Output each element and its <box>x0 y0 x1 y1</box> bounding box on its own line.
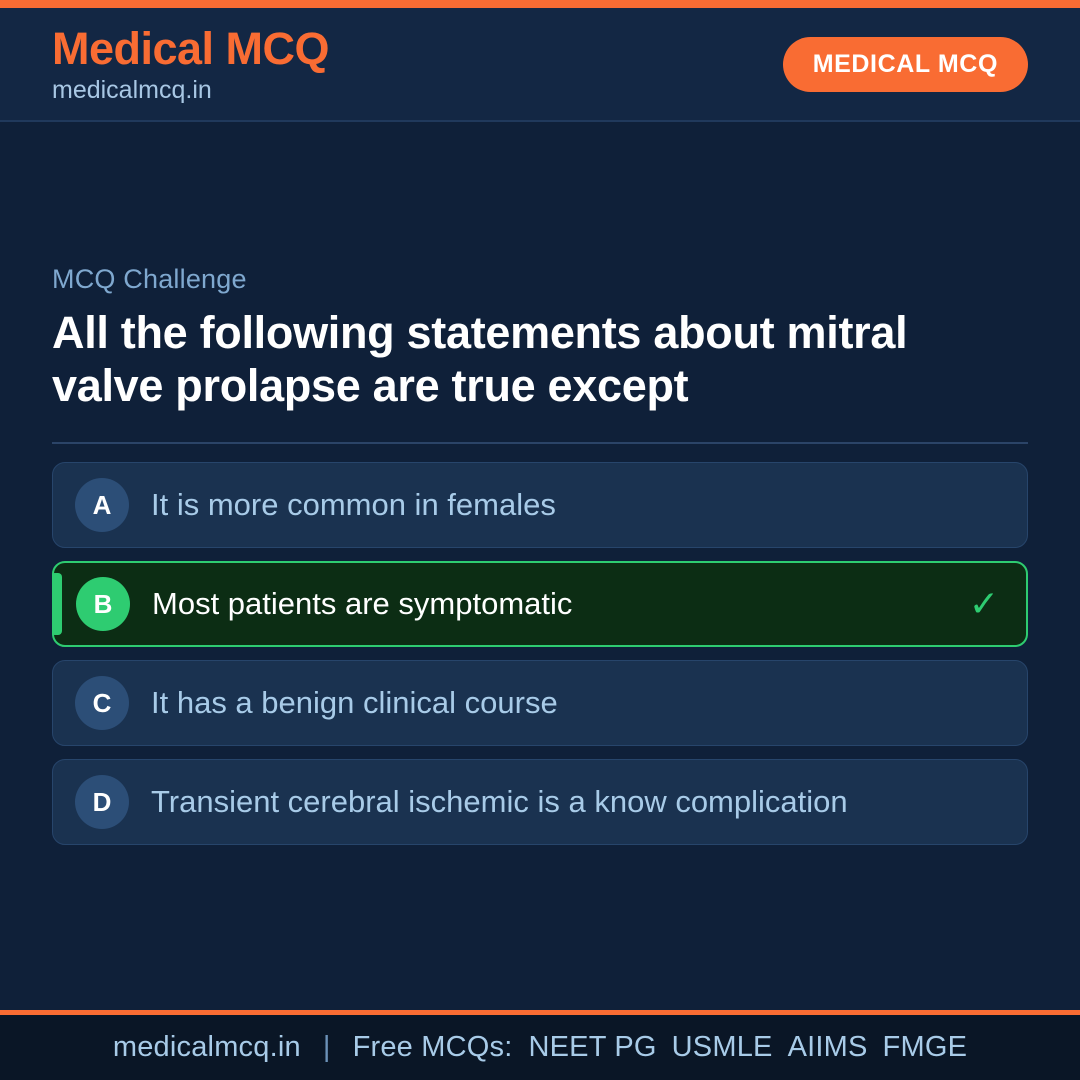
option-letter-badge: C <box>75 676 129 730</box>
footer-exam-neet-pg[interactable]: NEET PG <box>528 1031 656 1064</box>
option-label: It has a benign clinical course <box>151 686 965 721</box>
option-label: Transient cerebral ischemic is a know co… <box>151 785 965 820</box>
option-b[interactable]: B Most patients are symptomatic ✓ <box>52 561 1028 647</box>
eyebrow-label: MCQ Challenge <box>52 264 1028 295</box>
footer-content: medicalmcq.in | Free MCQs: NEET PG USMLE… <box>113 1031 967 1064</box>
footer-site[interactable]: medicalmcq.in <box>113 1031 301 1064</box>
section-divider <box>52 442 1028 444</box>
footer-exam-usmle[interactable]: USMLE <box>672 1031 773 1064</box>
page-header: Medical MCQ medicalmcq.in MEDICAL MCQ <box>0 8 1080 122</box>
page-footer: medicalmcq.in | Free MCQs: NEET PG USMLE… <box>0 1010 1080 1080</box>
brand-title: Medical MCQ <box>52 26 329 71</box>
question-text: All the following statements about mitra… <box>52 307 982 412</box>
footer-exam-aiims[interactable]: AIIMS <box>788 1031 868 1064</box>
option-label: Most patients are symptomatic <box>152 587 964 622</box>
option-letter-badge: B <box>76 577 130 631</box>
footer-exam-fmge[interactable]: FMGE <box>883 1031 968 1064</box>
options-list: A It is more common in females ✓ B Most … <box>52 462 1028 845</box>
option-d[interactable]: D Transient cerebral ischemic is a know … <box>52 759 1028 845</box>
question-block: MCQ Challenge All the following statemen… <box>52 122 1028 412</box>
brand-subtitle: medicalmcq.in <box>52 78 329 103</box>
mcq-card: Medical MCQ medicalmcq.in MEDICAL MCQ MC… <box>0 0 1080 1080</box>
main-content: MCQ Challenge All the following statemen… <box>0 122 1080 1010</box>
option-letter-badge: D <box>75 775 129 829</box>
option-label: It is more common in females <box>151 488 965 523</box>
correct-accent-bar <box>54 573 62 635</box>
option-c[interactable]: C It has a benign clinical course ✓ <box>52 660 1028 746</box>
top-accent-bar <box>0 0 1080 8</box>
content-spacer <box>52 845 1028 1010</box>
option-letter-badge: A <box>75 478 129 532</box>
check-icon: ✓ <box>964 583 1004 625</box>
footer-exams-label: Free MCQs: <box>353 1031 513 1064</box>
option-a[interactable]: A It is more common in females ✓ <box>52 462 1028 548</box>
header-badge: MEDICAL MCQ <box>783 37 1028 92</box>
footer-separator: | <box>317 1031 337 1064</box>
brand: Medical MCQ medicalmcq.in <box>52 26 329 103</box>
footer-exams: NEET PG USMLE AIIMS FMGE <box>528 1031 967 1064</box>
